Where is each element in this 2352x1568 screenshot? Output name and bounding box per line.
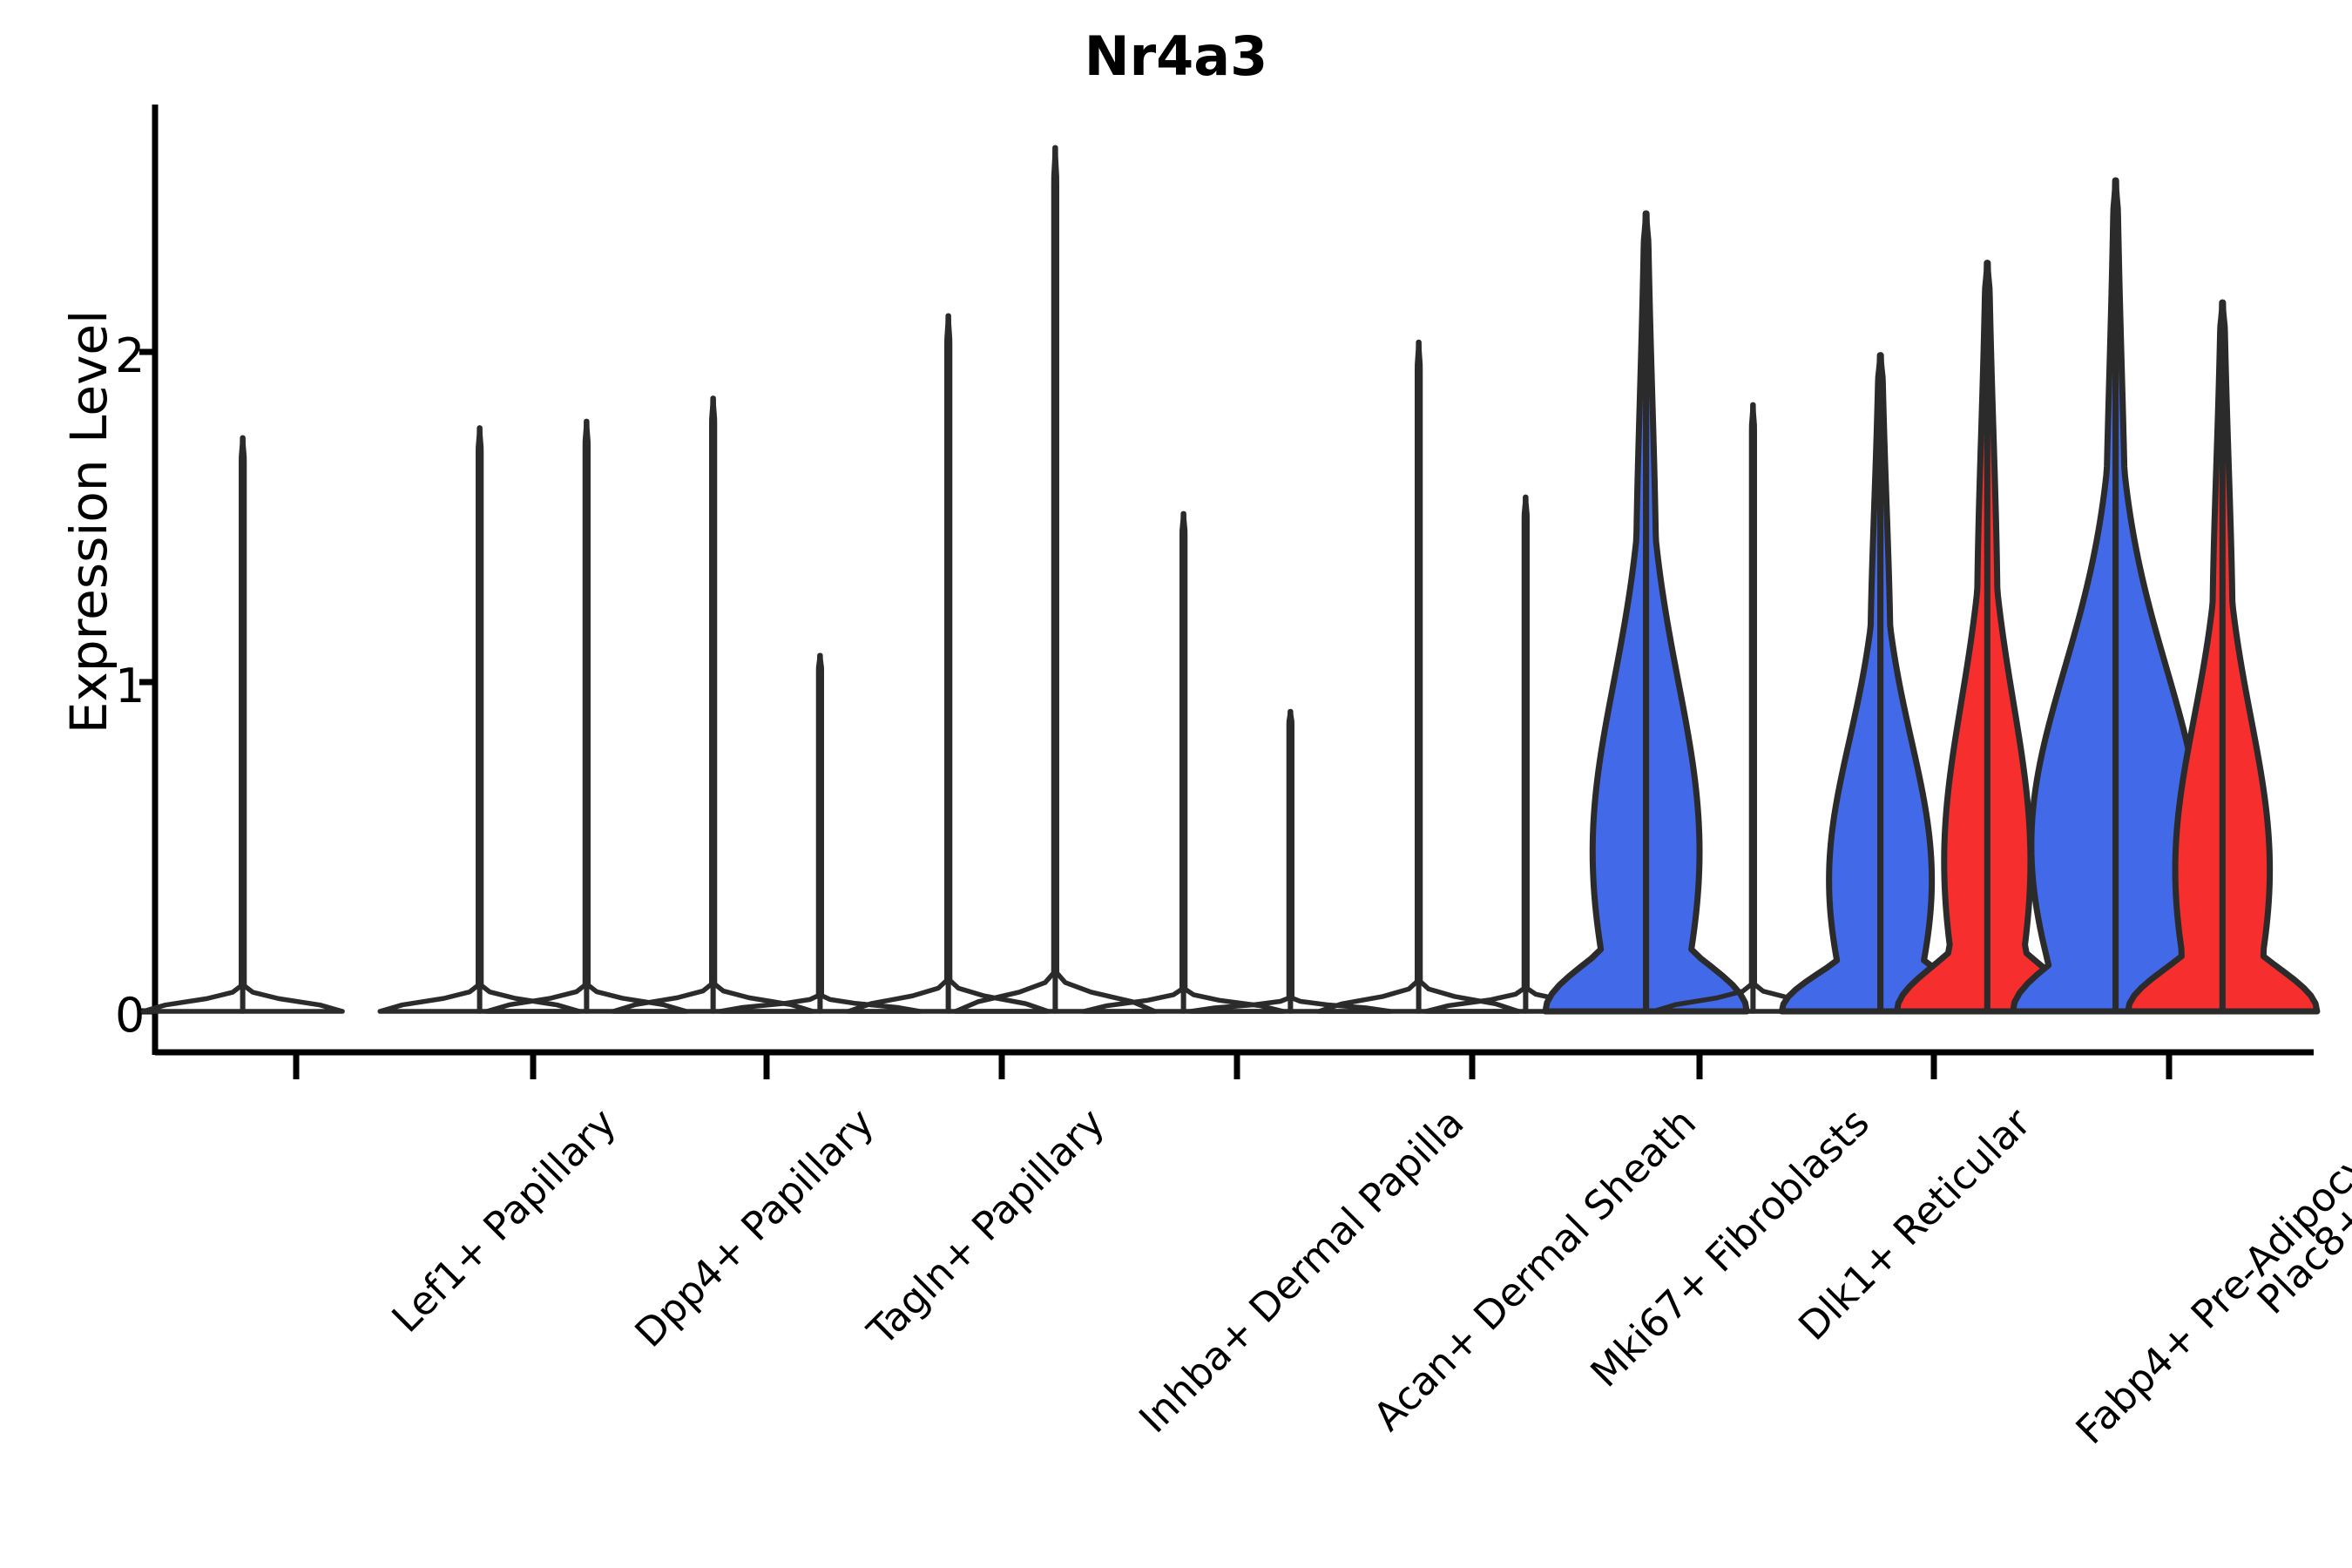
violin-half bbox=[956, 147, 1055, 1011]
violin-half bbox=[1781, 355, 1880, 1011]
violin-half bbox=[586, 421, 686, 1011]
violin-half bbox=[1184, 513, 1283, 1011]
violin-half bbox=[1646, 213, 1747, 1011]
violin-plot-figure: Nr4a3 Expression Level 0 1 2 bbox=[0, 0, 2352, 1568]
violin-half bbox=[1290, 712, 1389, 1011]
violin-half bbox=[1426, 497, 1525, 1011]
violin-half bbox=[820, 655, 919, 1011]
violin-bodies bbox=[143, 147, 2317, 1011]
violin-half bbox=[1055, 147, 1154, 1011]
plot-area: Expression Level 0 1 2 bbox=[0, 0, 2352, 1568]
violin-half bbox=[1419, 342, 1518, 1011]
violin-half bbox=[713, 398, 813, 1011]
violin-half bbox=[1319, 342, 1418, 1011]
violin-half bbox=[487, 421, 586, 1011]
violin-half bbox=[380, 428, 479, 1011]
violin-half bbox=[2222, 302, 2317, 1011]
violin-half bbox=[848, 315, 948, 1011]
violin-half bbox=[949, 315, 1048, 1011]
violin-svg bbox=[0, 0, 2352, 1568]
violin-half bbox=[243, 437, 342, 1011]
violin-half bbox=[1191, 712, 1290, 1011]
violin-half bbox=[720, 655, 820, 1011]
violin-half bbox=[1545, 213, 1646, 1011]
violin-half bbox=[480, 428, 579, 1011]
violin-half bbox=[1084, 513, 1183, 1011]
violin-half bbox=[613, 398, 713, 1011]
x-ticks bbox=[296, 1055, 2169, 1079]
